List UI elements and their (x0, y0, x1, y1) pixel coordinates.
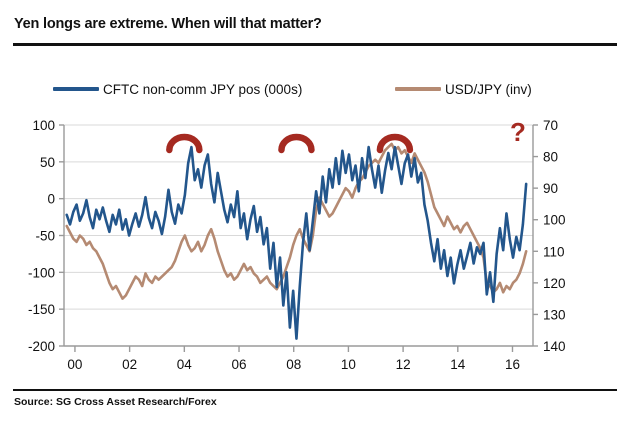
arc-2008 (281, 137, 311, 150)
x-axis-tick-label: 02 (122, 357, 137, 372)
chart-canvas: 100500-50-100-150-2007080901001101201301… (0, 0, 630, 429)
plot-area: 100500-50-100-150-2007080901001101201301… (0, 0, 630, 429)
y-axis-left-tick-label: -50 (35, 229, 55, 244)
x-axis-tick-label: 10 (341, 357, 356, 372)
x-axis-tick-label: 16 (505, 357, 520, 372)
x-axis-tick-label: 14 (450, 357, 466, 372)
y-axis-right-tick-label: 70 (543, 118, 558, 133)
y-axis-right-tick-label: 90 (543, 181, 558, 196)
question-mark-2016: ? (510, 117, 526, 147)
y-axis-left-tick-label: -100 (28, 265, 55, 280)
x-axis-tick-label: 12 (396, 357, 411, 372)
y-axis-right-tick-label: 130 (543, 307, 566, 322)
arc-2004 (169, 137, 199, 150)
x-axis-tick-label: 06 (232, 357, 247, 372)
y-axis-left-tick-label: -150 (28, 302, 55, 317)
x-axis-tick-label: 08 (286, 357, 301, 372)
y-axis-right-tick-label: 140 (543, 339, 566, 354)
source-note: Source: SG Cross Asset Research/Forex (14, 396, 217, 408)
y-axis-left-tick-label: 0 (47, 192, 55, 207)
footer-divider (13, 389, 617, 391)
x-axis-tick-label: 04 (177, 357, 193, 372)
series-line (67, 144, 526, 299)
x-axis-tick-label: 00 (67, 357, 82, 372)
series-line (67, 147, 526, 339)
chart-page: Yen longs are extreme. When will that ma… (0, 0, 630, 429)
y-axis-right-tick-label: 110 (543, 244, 565, 259)
y-axis-left-tick-label: 50 (40, 155, 55, 170)
y-axis-right-tick-label: 100 (543, 213, 566, 228)
y-axis-left-tick-label: -200 (28, 339, 55, 354)
y-axis-right-tick-label: 120 (543, 276, 566, 291)
y-axis-right-tick-label: 80 (543, 150, 558, 165)
y-axis-left-tick-label: 100 (32, 118, 55, 133)
